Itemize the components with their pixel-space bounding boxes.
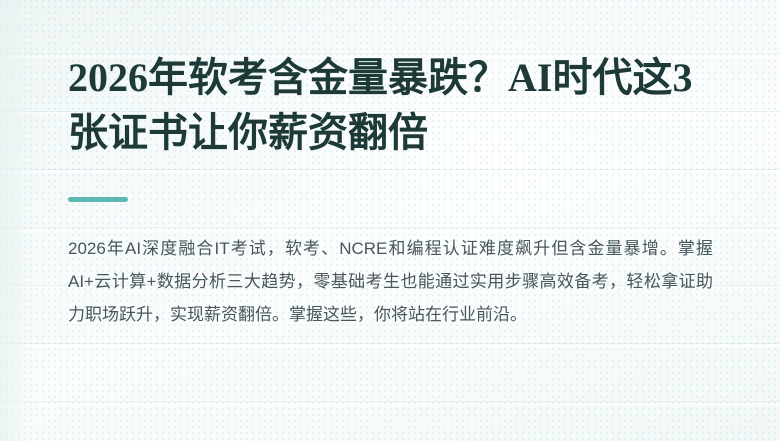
poster-summary: 2026年AI深度融合IT考试，软考、NCRE和编程认证难度飙升但含金量暴增。掌…: [68, 232, 713, 331]
background-left-seam: [0, 0, 36, 441]
poster-content: 2026年软考含金量暴跌？AI时代这3张证书让你薪资翻倍 2026年AI深度融合…: [68, 0, 716, 441]
article-cover-poster: 2026年软考含金量暴跌？AI时代这3张证书让你薪资翻倍 2026年AI深度融合…: [0, 0, 780, 441]
accent-divider: [68, 197, 128, 202]
poster-headline: 2026年软考含金量暴跌？AI时代这3张证书让你薪资翻倍: [68, 50, 714, 160]
